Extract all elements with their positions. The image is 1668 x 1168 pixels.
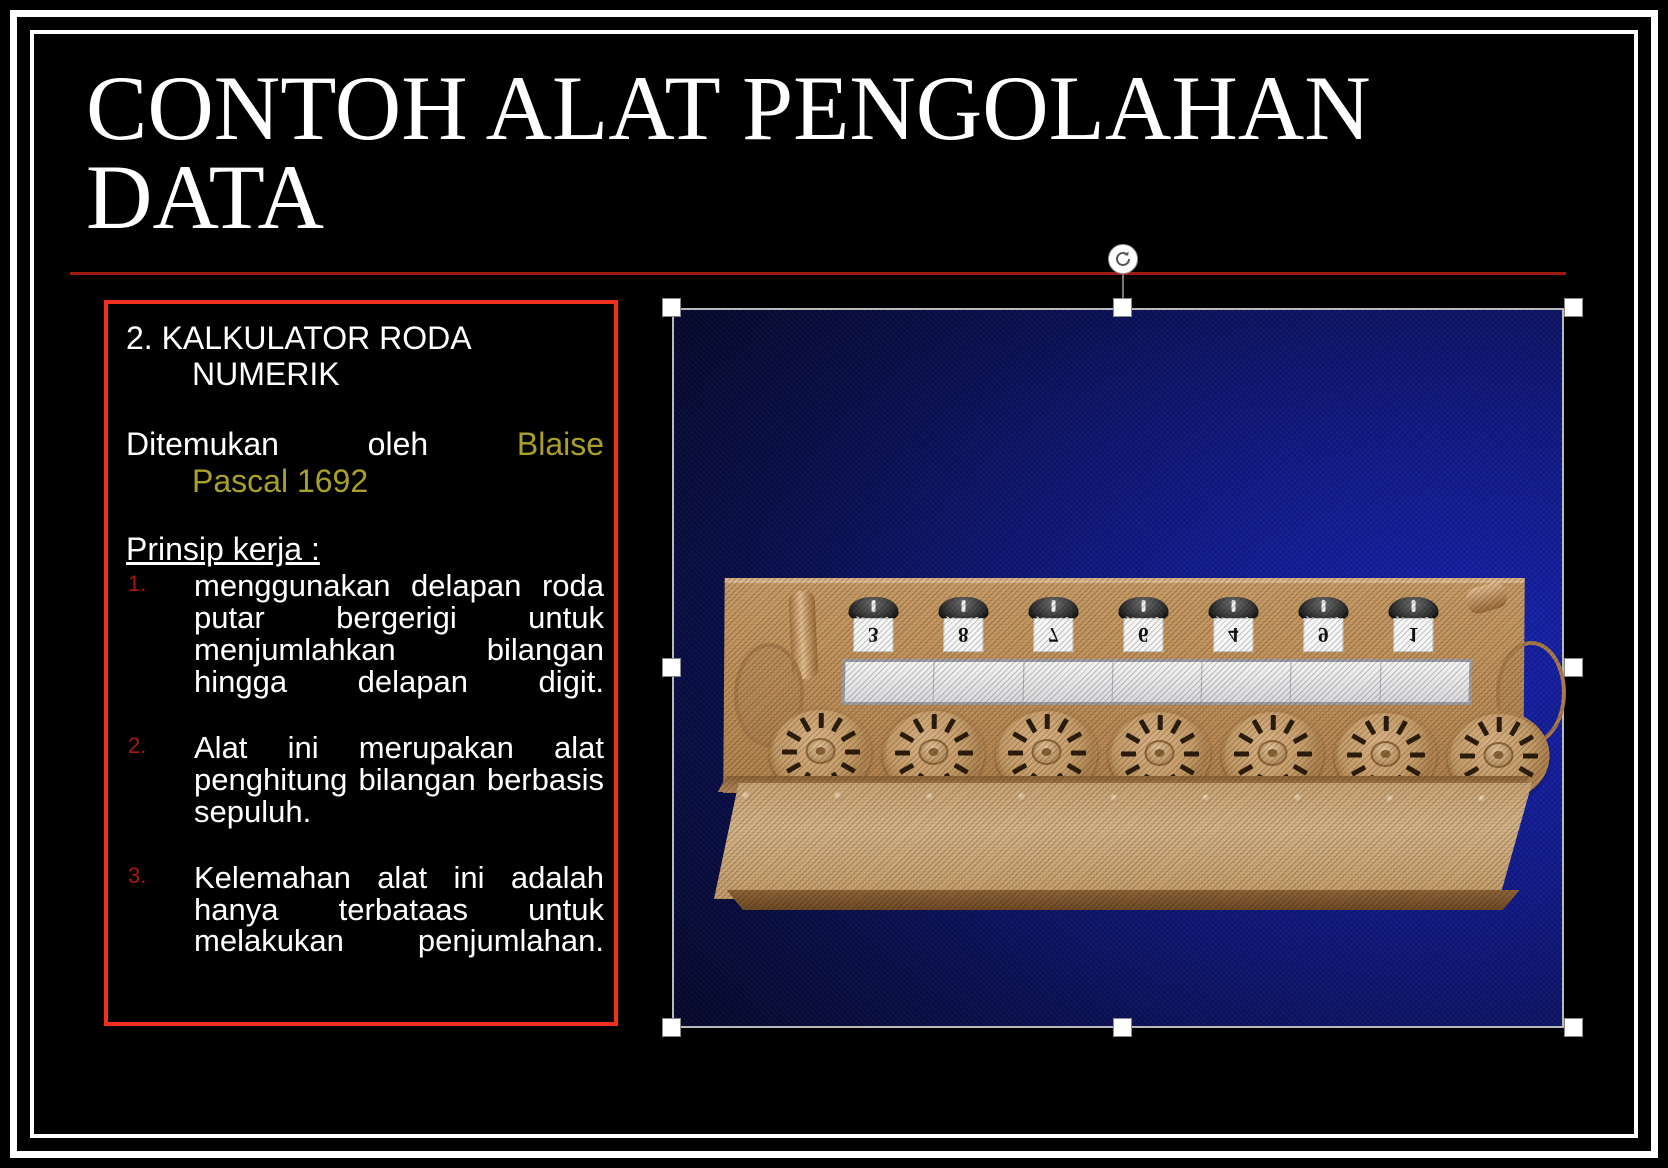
dial-tooth [932, 714, 937, 729]
spacer-2 [126, 500, 604, 530]
discoverer-name-part1: Blaise [517, 426, 604, 462]
machine-stud [1202, 794, 1211, 803]
digit-window: 8 [943, 618, 983, 652]
dial-hub [1257, 740, 1287, 766]
display-segment [1023, 662, 1113, 702]
dial-tooth [1384, 716, 1389, 731]
list-item-text: menggunakan delapan roda putar bergerigi… [194, 570, 604, 730]
discoverer-name-part2: Pascal 1692 [126, 463, 604, 500]
digit-window: 9 [1303, 618, 1343, 652]
dial-tooth [1351, 733, 1366, 745]
machine-stud-row [742, 792, 1502, 804]
machine-stud [1478, 795, 1487, 804]
dial-hub [1370, 741, 1400, 767]
discoverer-prefix: Ditemukan [126, 426, 279, 462]
machine-stud [834, 792, 843, 801]
slide-root: CONTOH ALAT PENGOLAHAN DATA 2. KALKULATO… [0, 0, 1668, 1168]
dial-tooth [1518, 765, 1533, 777]
resize-handle-bottom-left[interactable] [662, 1018, 681, 1037]
resize-handle-bottom-right[interactable] [1564, 1018, 1583, 1037]
machine-stud [1294, 794, 1303, 803]
digit-window: 6 [1123, 618, 1163, 652]
dial-tooth [1170, 719, 1182, 734]
display-segment [845, 662, 935, 702]
picture-selection-wrapper[interactable]: 3876491 [672, 308, 1564, 1028]
dial-tooth [1026, 718, 1038, 733]
dial-tooth [1238, 733, 1253, 745]
dial-tooth [1351, 765, 1367, 777]
machine-stud [742, 792, 751, 801]
dial-tooth [1238, 764, 1254, 776]
dial-tooth [1121, 751, 1136, 756]
dial-hub [918, 739, 948, 765]
dial-tooth [1293, 733, 1309, 745]
dial-tooth [1012, 763, 1028, 775]
list-item-text: Alat ini merupakan alat penghitung bilan… [194, 732, 604, 860]
dial-tooth [1184, 751, 1199, 756]
dial-tooth [1478, 721, 1490, 736]
dial-tooth [953, 762, 968, 774]
dial-tooth [899, 762, 915, 774]
dial-tooth [1008, 751, 1023, 756]
dial-tooth [831, 717, 843, 732]
dial-tooth [1509, 721, 1521, 736]
display-segment [934, 662, 1024, 702]
machine-base [710, 890, 1536, 910]
resize-handle-top-center[interactable] [1113, 298, 1132, 317]
dial-tooth [841, 730, 857, 742]
page-title-line1: CONTOH ALAT PENGOLAHAN [86, 64, 1386, 153]
dial-tooth [1406, 733, 1422, 745]
dial-tooth [786, 730, 801, 742]
dial-tooth [1179, 764, 1194, 776]
principle-heading-wrap: Prinsip kerja : [126, 530, 604, 570]
dial-tooth [1365, 720, 1377, 735]
dial-hub [1483, 742, 1513, 768]
principle-list: 1. menggunakan delapan roda putar berger… [126, 570, 604, 989]
dial-tooth [1071, 751, 1086, 756]
principle-heading: Prinsip kerja : [126, 530, 320, 568]
dial-tooth [1139, 719, 1151, 734]
list-item: 2. Alat ini merupakan alat penghitung bi… [126, 732, 604, 860]
page-title[interactable]: CONTOH ALAT PENGOLAHAN DATA [86, 64, 1386, 242]
dial-tooth [1067, 732, 1083, 744]
display-segment [1112, 662, 1202, 702]
dial-hub [1144, 740, 1174, 766]
dial-tooth [1271, 715, 1276, 730]
discoverer-word2: oleh [368, 426, 429, 462]
dial-hub [1031, 739, 1061, 765]
rotate-icon[interactable] [1108, 244, 1138, 274]
dial-tooth [1396, 720, 1408, 735]
dial-tooth [1057, 718, 1069, 733]
resize-handle-middle-right[interactable] [1564, 658, 1583, 677]
resize-handle-top-left[interactable] [662, 298, 681, 317]
dial-tooth [1519, 734, 1535, 746]
dial-tooth [840, 762, 855, 774]
dial-tooth [1125, 732, 1140, 744]
dial-tooth [1125, 764, 1141, 776]
digit-window: 7 [1033, 618, 1073, 652]
dial-tooth [954, 731, 970, 743]
dial-tooth [958, 750, 973, 755]
dial-tooth [1158, 715, 1163, 730]
dial-tooth [800, 717, 812, 732]
pascaline-machine-illustration: 3876491 [702, 578, 1542, 918]
textbox-heading: 2. KALKULATOR RODA NUMERIK [126, 320, 604, 392]
dial-tooth [1180, 732, 1196, 744]
machine-stud [926, 793, 935, 802]
dial-tooth [1234, 752, 1249, 757]
dial-hub [805, 738, 835, 764]
dial-tooth [1045, 714, 1050, 729]
dial-tooth [1464, 765, 1480, 777]
dial-tooth [1012, 732, 1027, 744]
dial-tooth [913, 718, 925, 733]
dial-tooth [944, 718, 956, 733]
machine-stud [1386, 795, 1395, 804]
dial-tooth [819, 713, 824, 728]
dial-tooth [1460, 753, 1475, 758]
digit-window: 4 [1213, 618, 1253, 652]
dial-tooth [1347, 753, 1362, 758]
textbox-heading-line1: 2. KALKULATOR RODA [126, 320, 472, 356]
dial-tooth [1292, 764, 1307, 776]
display-segment [1380, 662, 1469, 702]
list-item-text: Kelemahan alat ini adalah hanya terbataa… [194, 862, 604, 990]
machine-stud [1110, 794, 1119, 803]
digit-window-row: 3876491 [842, 597, 1482, 653]
resize-handle-bottom-center[interactable] [1113, 1018, 1132, 1037]
dial-tooth [1464, 734, 1479, 746]
dial-tooth [782, 750, 797, 755]
dial-tooth [1523, 753, 1538, 758]
content-textbox[interactable]: 2. KALKULATOR RODA NUMERIK Ditemukan ole… [104, 300, 618, 1026]
dial-tooth [895, 750, 910, 755]
page-title-line2: DATA [86, 153, 1386, 242]
machine-top-face: 3876491 [723, 578, 1525, 793]
digit-window: 1 [1393, 618, 1433, 652]
title-divider [70, 272, 1566, 275]
resize-handle-middle-left[interactable] [662, 658, 681, 677]
discoverer-line: Ditemukan oleh Blaise [126, 426, 604, 463]
display-segment [1202, 662, 1292, 702]
list-item-number: 2. [128, 735, 146, 758]
list-item: 3. Kelemahan alat ini adalah hanya terba… [126, 862, 604, 990]
result-display-bar [841, 659, 1472, 705]
dial-tooth [1410, 753, 1425, 758]
digit-window: 3 [853, 618, 893, 652]
dial-tooth [786, 762, 802, 774]
display-segment [1291, 662, 1381, 702]
dial-tooth [845, 750, 860, 755]
list-item: 1. menggunakan delapan roda putar berger… [126, 570, 604, 730]
pascaline-calculator-image[interactable]: 3876491 [672, 308, 1564, 1028]
machine-stud [1018, 793, 1027, 802]
spacer-1 [126, 392, 604, 426]
list-item-number: 3. [128, 865, 146, 888]
dial-tooth [1283, 719, 1295, 734]
dial-tooth [1252, 719, 1264, 734]
list-item-number: 1. [128, 573, 146, 596]
textbox-heading-line2: NUMERIK [126, 356, 604, 392]
resize-handle-top-right[interactable] [1564, 298, 1583, 317]
dial-tooth [1297, 752, 1312, 757]
dial-tooth [1405, 765, 1420, 777]
dial-tooth [1497, 717, 1502, 732]
dial-tooth [1066, 763, 1081, 775]
dial-tooth [899, 731, 914, 743]
slide-canvas: CONTOH ALAT PENGOLAHAN DATA 2. KALKULATO… [36, 36, 1632, 1132]
